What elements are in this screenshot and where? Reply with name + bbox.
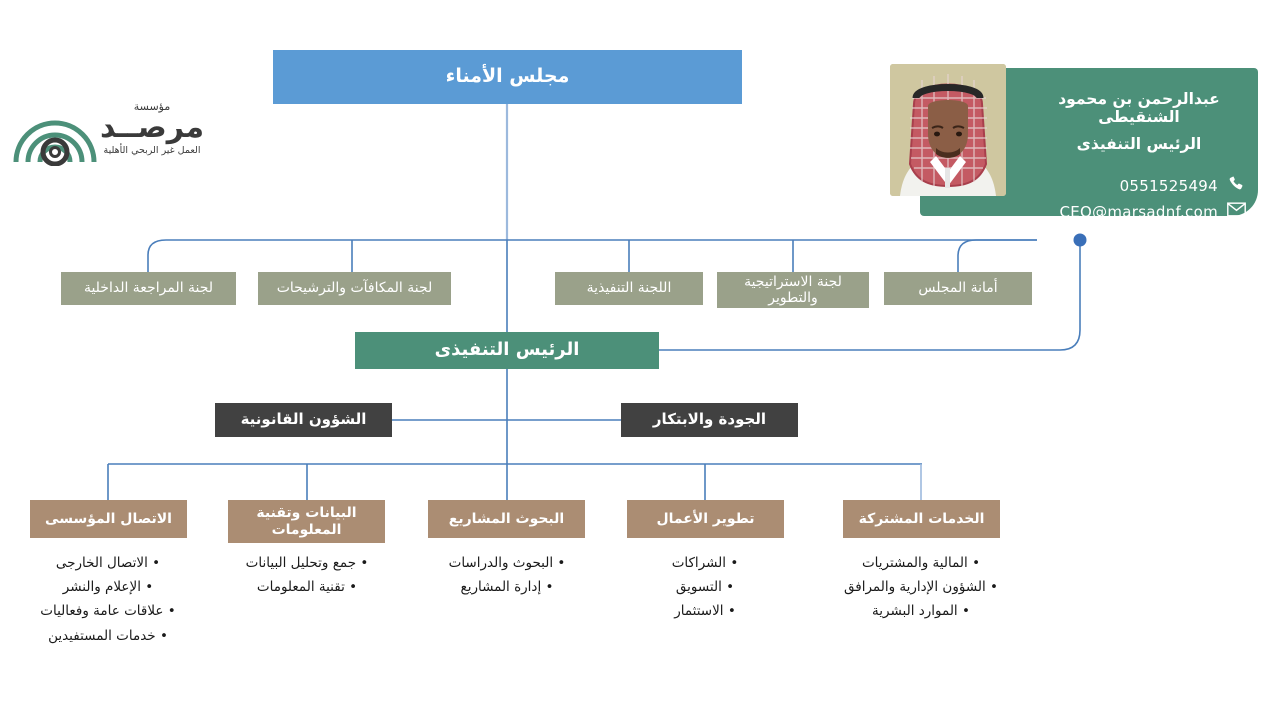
ceo-photo [890,64,1006,196]
node-committee-board-secretariat[interactable]: أمانة المجلس [884,272,1032,305]
node-ceo[interactable]: الرئيس التنفيذى [355,332,659,369]
list-item: علاقات عامة وفعاليات [8,604,208,618]
ceo-title: الرئيس التنفيذى [1028,135,1250,153]
node-committee-label: لجنة المكافآت والترشيحات [277,280,433,296]
list-item: الإعلام والنشر [8,580,208,594]
node-dept-shared-services[interactable]: الخدمات المشتركة [843,500,1000,538]
node-board-of-trustees[interactable]: مجلس الأمناء [273,50,742,104]
node-quality-innovation[interactable]: الجودة والابتكار [621,403,798,437]
node-committee-label: لجنة الاستراتيجية والتطوير [723,274,863,306]
node-committee-label: اللجنة التنفيذية [587,280,672,296]
list-item: الاتصال الخارجى [8,556,208,570]
marsad-arc-icon [12,102,98,166]
list-item: الموارد البشرية [821,604,1021,618]
list-item: التسويق [605,580,805,594]
node-staff-unit-label: الجودة والابتكار [653,411,766,428]
node-dept-label: البيانات وتقنية المعلومات [234,505,379,537]
ceo-phone-row[interactable]: 0551525494 [1028,175,1250,196]
node-committee-label: أمانة المجلس [918,280,997,296]
list-item: إدارة المشاريع [407,580,607,594]
node-committee-strategy-development[interactable]: لجنة الاستراتيجية والتطوير [717,272,869,308]
list-item: جمع وتحليل البيانات [207,556,407,570]
bullets-business-development: الشراكات التسويق الاستثمار [605,556,805,629]
node-committee-internal-audit[interactable]: لجنة المراجعة الداخلية [61,272,236,305]
node-staff-unit-label: الشؤون القانونية [241,411,367,428]
node-dept-label: الخدمات المشتركة [859,511,985,527]
node-dept-research-projects[interactable]: البحوث المشاريع [428,500,585,538]
bullets-data-it: جمع وتحليل البيانات تقنية المعلومات [207,556,407,604]
node-dept-label: البحوث المشاريع [449,511,564,527]
logo-sub-text: العمل غير الربحي الأهلية [92,145,212,156]
org-chart-canvas: مؤسسة مرصــد العمل غير الربحي الأهلية مج… [0,0,1280,720]
list-item: خدمات المستفيدين [8,629,208,643]
bullets-corporate-communication: الاتصال الخارجى الإعلام والنشر علاقات عا… [8,556,208,653]
node-committee-executive[interactable]: اللجنة التنفيذية [555,272,703,305]
phone-icon [1226,175,1246,196]
node-dept-label: تطوير الأعمال [656,511,754,527]
list-item: الشراكات [605,556,805,570]
node-dept-label: الاتصال المؤسسى [45,511,172,527]
node-committee-label: لجنة المراجعة الداخلية [84,280,213,296]
list-item: الاستثمار [605,604,805,618]
ceo-phone-value: 0551525494 [1028,177,1218,195]
list-item: المالية والمشتريات [821,556,1021,570]
list-item: تقنية المعلومات [207,580,407,594]
ceo-contact-card[interactable]: عبدالرحمن بن محمود الشنقيطى الرئيس التنف… [920,68,1258,216]
list-item: البحوث والدراسات [407,556,607,570]
node-committee-rewards-nominations[interactable]: لجنة المكافآت والترشيحات [258,272,451,305]
bullets-research-projects: البحوث والدراسات إدارة المشاريع [407,556,607,604]
ceo-email-value: CEO@marsadnf.com [1028,203,1218,221]
node-dept-corporate-communication[interactable]: الاتصال المؤسسى [30,500,187,538]
node-dept-data-it[interactable]: البيانات وتقنية المعلومات [228,500,385,543]
logo-main-text: مرصــد [92,113,212,143]
marsad-logo: مؤسسة مرصــد العمل غير الربحي الأهلية [12,98,212,170]
ceo-email-row[interactable]: CEO@marsadnf.com [1028,202,1250,221]
node-legal-affairs[interactable]: الشؤون القانونية [215,403,392,437]
bullets-shared-services: المالية والمشتريات الشؤون الإدارية والمر… [821,556,1021,629]
node-board-label: مجلس الأمناء [446,66,570,88]
node-ceo-label: الرئيس التنفيذى [435,340,580,361]
node-dept-business-development[interactable]: تطوير الأعمال [627,500,784,538]
ceo-name: عبدالرحمن بن محمود الشنقيطى [1028,90,1250,126]
envelope-icon [1226,202,1246,221]
list-item: الشؤون الإدارية والمرافق [821,580,1021,594]
